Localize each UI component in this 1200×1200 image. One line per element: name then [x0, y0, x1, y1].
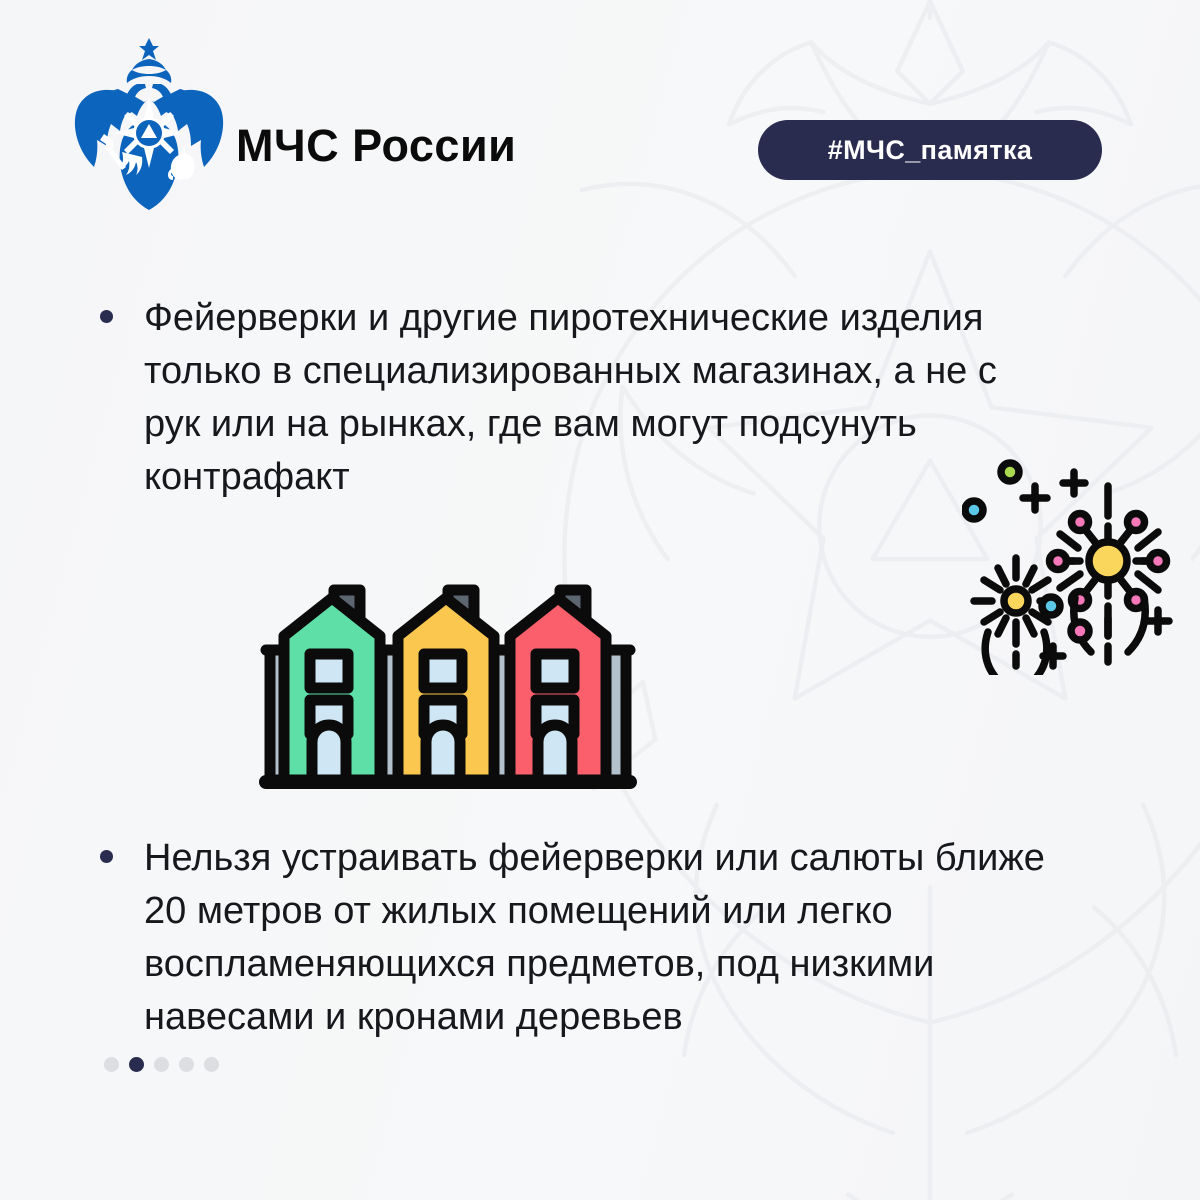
bullet-marker-icon [100, 850, 113, 863]
pager-dots[interactable] [104, 1057, 219, 1072]
pager-dot-5[interactable] [204, 1057, 219, 1072]
infographic-page: МЧС России #МЧС_памятка Фейерверки и дру… [0, 0, 1200, 1200]
hashtag-badge[interactable]: #МЧС_памятка [758, 120, 1102, 180]
pager-dot-2[interactable] [129, 1057, 144, 1072]
bullet-text-1: Фейерверки и другие пиротехнические изде… [144, 292, 1049, 504]
page-title: МЧС России [236, 120, 516, 172]
header: МЧС России #МЧС_памятка [0, 0, 1200, 250]
bullet-text-2: Нельзя устраивать фейерверки или салюты … [144, 832, 1049, 1044]
bullet-marker-icon [100, 310, 113, 323]
bullet-item-2: Нельзя устраивать фейерверки или салюты … [100, 832, 1080, 1044]
pager-dot-3[interactable] [154, 1057, 169, 1072]
hashtag-badge-label: #МЧС_памятка [828, 135, 1033, 166]
pager-dot-1[interactable] [104, 1057, 119, 1072]
pager-dot-4[interactable] [179, 1057, 194, 1072]
bullet-item-1: Фейерверки и другие пиротехнические изде… [100, 292, 1080, 504]
row-of-houses-icon [258, 562, 638, 797]
mchs-eagle-emblem-icon [74, 34, 224, 214]
fireworks-icon [962, 450, 1187, 675]
